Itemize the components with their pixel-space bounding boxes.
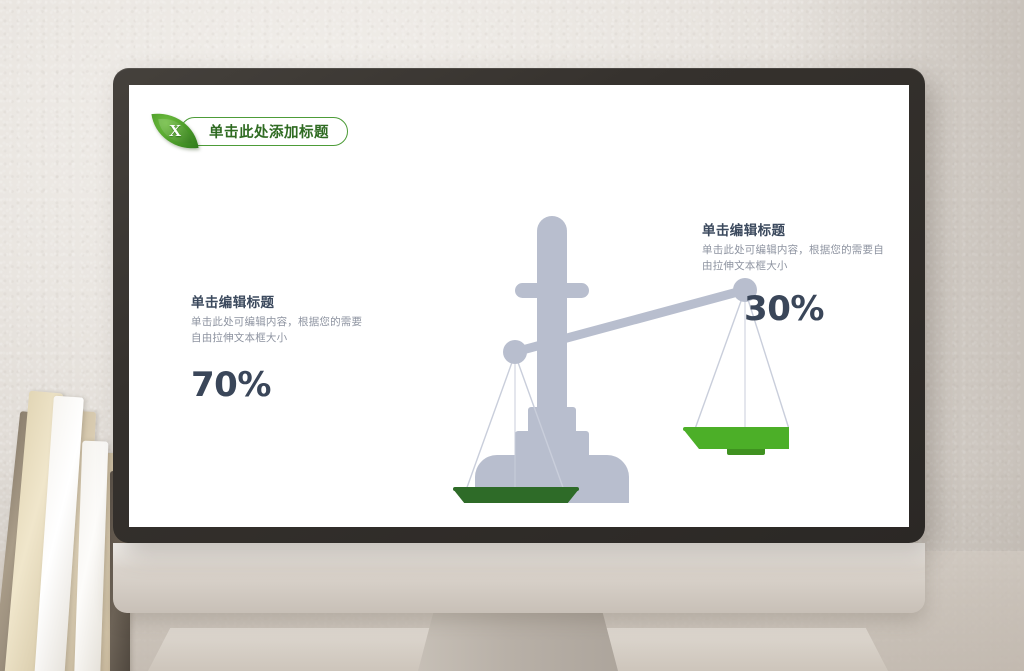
- scale-column: [537, 229, 567, 413]
- scale-pivot-knob: [537, 216, 567, 246]
- scale-pan-right: [683, 427, 789, 455]
- scale-crossbar: [515, 283, 589, 298]
- monitor-chin: [113, 543, 925, 613]
- block-left-heading: 单击编辑标题: [191, 291, 366, 311]
- slide-title-pill[interactable]: 单击此处添加标题: [180, 117, 348, 146]
- leaf-icon: X: [151, 108, 198, 153]
- scene-root: X 单击此处添加标题: [0, 0, 1024, 671]
- leaf-letter-x: X: [169, 121, 181, 141]
- scale-pan-right-rim: [683, 427, 789, 431]
- scale-pan-left: [453, 487, 579, 503]
- monitor-stand-neck: [418, 610, 618, 671]
- block-right-percent: 30%: [702, 289, 892, 329]
- slide-title-badge[interactable]: X 单击此处添加标题: [154, 112, 348, 150]
- text-block-right: 单击编辑标题 单击此处可编辑内容，根据您的需要自由拉伸文本框大小 30%: [702, 219, 892, 329]
- block-left-body: 单击此处可编辑内容，根据您的需要自由拉伸文本框大小: [191, 315, 366, 347]
- page-title: 单击此处添加标题: [209, 121, 329, 142]
- monitor-screen: X 单击此处添加标题: [129, 85, 909, 527]
- scale-fulcrum-left: [503, 340, 527, 364]
- block-right-heading: 单击编辑标题: [702, 219, 892, 239]
- text-block-left: 单击编辑标题 单击此处可编辑内容，根据您的需要自由拉伸文本框大小 70%: [191, 291, 366, 405]
- scale-pan-left-body: [453, 489, 579, 503]
- monitor-chin-gloss: [113, 543, 925, 569]
- block-right-body: 单击此处可编辑内容，根据您的需要自由拉伸文本框大小: [702, 243, 892, 275]
- scale-pan-left-rim: [453, 487, 579, 491]
- monitor: X 单击此处添加标题: [113, 68, 925, 543]
- scale-pan-right-body: [683, 429, 789, 449]
- block-left-percent: 70%: [191, 365, 366, 405]
